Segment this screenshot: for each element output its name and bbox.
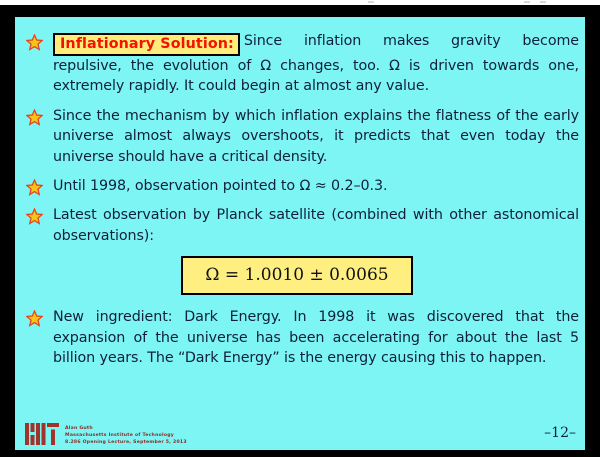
star-icon — [26, 34, 43, 51]
star-icon — [26, 208, 43, 225]
star-icon — [26, 109, 43, 126]
footer-author: Alan Guth — [65, 425, 187, 432]
slide-viewer: Inflationary Solution:Since inflation ma… — [0, 0, 600, 457]
slide-canvas: Inflationary Solution:Since inflation ma… — [15, 17, 585, 450]
bullet-item: Until 1998, observation pointed to Ω ≈ 0… — [15, 176, 579, 196]
bullet-list: Inflationary Solution:Since inflation ma… — [15, 31, 579, 377]
bullet-text: Latest observation by Planck satellite (… — [53, 205, 579, 246]
chrome-artifact — [540, 1, 546, 3]
bullet-text: Until 1998, observation pointed to Ω ≈ 0… — [53, 176, 579, 196]
bullet-item: Inflationary Solution:Since inflation ma… — [15, 31, 579, 97]
bullet-text: New ingredient: Dark Energy. In 1998 it … — [53, 307, 579, 368]
equation-box: Ω = 1.0010 ± 0.0065 — [181, 256, 412, 295]
mit-logo — [25, 423, 59, 445]
bullet-item: Since the mechanism by which inflation e… — [15, 106, 579, 167]
page-number: –12– — [544, 425, 576, 441]
slide-frame: Inflationary Solution:Since inflation ma… — [0, 5, 600, 457]
footer-affiliation: Massachusetts Institute of Technology — [65, 432, 187, 439]
footer-credits: Alan Guth Massachusetts Institute of Tec… — [65, 425, 187, 446]
bullet-item: New ingredient: Dark Energy. In 1998 it … — [15, 307, 579, 368]
bullet-text: Since the mechanism by which inflation e… — [53, 106, 579, 167]
footer-occasion: 8.286 Opening Lecture, September 5, 2013 — [65, 439, 187, 446]
chrome-artifact — [524, 1, 530, 3]
bullet-text: Inflationary Solution:Since inflation ma… — [53, 31, 579, 97]
bullet-item: Latest observation by Planck satellite (… — [15, 205, 579, 246]
star-icon — [26, 179, 43, 196]
chrome-artifact — [368, 1, 374, 3]
star-icon — [26, 310, 43, 327]
highlight-chip: Inflationary Solution: — [53, 33, 240, 56]
slide-footer: Alan Guth Massachusetts Institute of Tec… — [15, 418, 585, 448]
equation-block: Ω = 1.0010 ± 0.0065 — [15, 256, 579, 295]
